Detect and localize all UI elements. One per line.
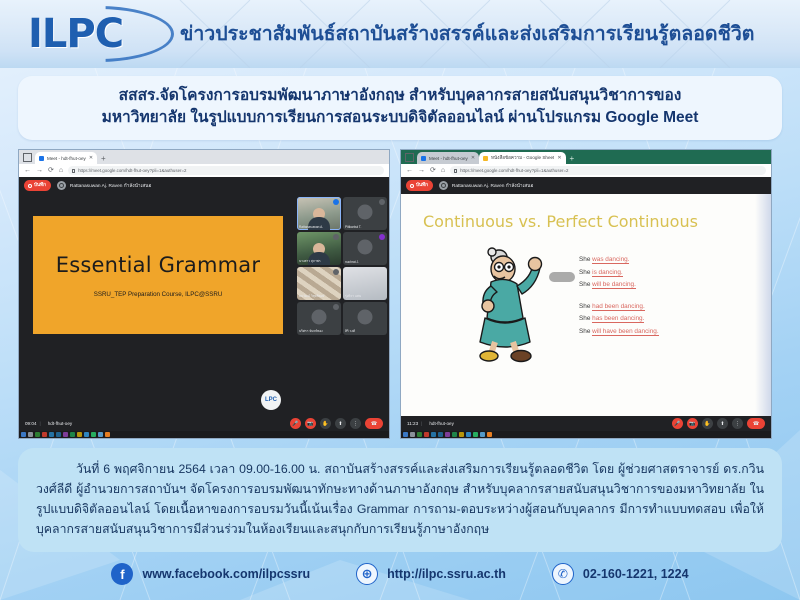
sentence-row: She will have been dancing. — [579, 326, 659, 339]
lock-icon — [72, 169, 75, 173]
record-dot-icon-right — [410, 184, 414, 188]
left-shared-screen: Essential Grammar SSRU_TEP Preparation C… — [19, 194, 295, 416]
taskbar-app-icon[interactable] — [28, 432, 33, 437]
taskbar-app-icon[interactable] — [438, 432, 443, 437]
taskbar-app-icon[interactable] — [417, 432, 422, 437]
taskbar-app-icon[interactable] — [431, 432, 436, 437]
leave-call-button[interactable]: ☎ — [747, 418, 765, 429]
participant-thumbnail[interactable]: สิริ วงศ์ — [343, 302, 387, 335]
sentence-group-perfect-continuous: She had been dancing.She has been dancin… — [579, 301, 659, 339]
camera-off-button[interactable]: 📷 — [687, 418, 698, 429]
mic-status-icon — [333, 199, 339, 205]
left-omnibox-row: ← → ⟳ ⌂ https://meet.google.com/hdt-fhut… — [19, 164, 389, 177]
present-screen-button[interactable]: ⬆ — [717, 418, 728, 429]
sentence-verb-phrase: was dancing. — [592, 256, 629, 264]
participant-thumbnail[interactable]: นางสาว สุภาพร — [297, 232, 341, 265]
footer-contact-text: http://ilpc.ssru.ac.th — [387, 567, 506, 581]
headline-line-1: สสสร.จัดโครงการอบรมพัฒนาภาษาอังกฤษ สำหรั… — [34, 85, 766, 107]
left-meet-time: 09:04 — [25, 421, 37, 426]
mic-status-icon — [379, 199, 385, 205]
phone-icon: ✆ — [552, 563, 574, 585]
left-call-controls: 🎤📷✋⬆⋮☎ — [290, 418, 383, 429]
globe-icon: ⊕ — [356, 563, 378, 585]
taskbar-app-icon[interactable] — [459, 432, 464, 437]
camera-off-button[interactable]: 📷 — [305, 418, 316, 429]
participant-name: นริศรา จันทร์ทอง — [299, 329, 333, 334]
presenting-icon-right — [439, 181, 448, 190]
ilpc-watermark: LPC — [261, 390, 281, 410]
screenshot-row: Meet - hdt-fhut-oey ✕ + ← → ⟳ ⌂ https://… — [18, 149, 782, 439]
body-paragraph: วันที่ 6 พฤศจิกายน 2564 เวลา 09.00-16.00… — [36, 459, 764, 539]
poster-root: ILPC ข่าวประชาสัมพันธ์สถาบันสร้างสรรค์แล… — [0, 0, 800, 600]
sentence-subject: She — [579, 303, 592, 310]
sentence-subject: She — [579, 269, 592, 276]
page-footer: fwww.facebook.com/ilpcssru⊕http://ilpc.s… — [0, 548, 800, 600]
sentence-verb-phrase: had been dancing. — [592, 303, 645, 311]
participant-thumbnail[interactable]: นริศรา จันทร์ทอง — [297, 302, 341, 335]
participant-name: nuchrat J. — [345, 260, 379, 264]
right-meet-time: 11:23 — [407, 421, 418, 426]
taskbar-app-icon[interactable] — [473, 432, 478, 437]
dancing-grandma-illustration — [473, 246, 559, 366]
right-browser-tabstrip: Meet - hdt-fhut-oey ✕ หนังสือข้อความ - G… — [401, 150, 771, 164]
mic-status-icon — [333, 234, 339, 240]
headline-banner: สสสร.จัดโครงการอบรมพัฒนาภาษาอังกฤษ สำหรั… — [18, 76, 782, 140]
left-windows-taskbar — [19, 431, 389, 438]
forward-icon[interactable]: → — [36, 167, 43, 174]
participant-name: รุ่งทิวา แสน — [345, 294, 379, 299]
forward-icon-right[interactable]: → — [418, 167, 425, 174]
headline-line-2: มหาวิทยาลัย ในรูปแบบการเรียนการสอนระบบดิ… — [34, 107, 766, 129]
right-tab-meet[interactable]: Meet - hdt-fhut-oey ✕ — [417, 152, 479, 164]
right-windows-taskbar — [401, 431, 771, 438]
body-text-card: วันที่ 6 พฤศจิกายน 2564 เวลา 09.00-16.00… — [18, 448, 782, 552]
right-tab-meet-label: Meet - hdt-fhut-oey — [429, 156, 468, 161]
window-restore-icon[interactable] — [23, 153, 32, 162]
participant-thumbnail[interactable]: Pitikarbul T. — [343, 197, 387, 230]
present-screen-button[interactable]: ⬆ — [335, 418, 346, 429]
header-title: ข่าวประชาสัมพันธ์สถาบันสร้างสรรค์และส่งเ… — [180, 16, 790, 52]
participant-name: สิริ วงศ์ — [345, 329, 379, 334]
right-recording-label: บันทึก — [416, 182, 428, 189]
sentence-row: She will be dancing. — [579, 279, 659, 292]
reload-icon-right[interactable]: ⟳ — [430, 167, 436, 174]
leave-call-button[interactable]: ☎ — [365, 418, 383, 429]
mic-status-icon — [379, 304, 385, 310]
right-tab-meet-close-icon[interactable]: ✕ — [471, 155, 475, 161]
participant-name: นางสาว สุภาพร — [299, 259, 333, 264]
sentence-list: She was dancing.She is dancing.She will … — [579, 254, 659, 338]
left-meet-controls-bar: 09:04 | hdt-fhut-oey 🎤📷✋⬆⋮☎ — [19, 416, 389, 431]
avatar — [358, 240, 373, 255]
left-new-tab-button[interactable]: + — [101, 155, 106, 163]
raise-hand-button[interactable]: ✋ — [702, 418, 713, 429]
participant-name: Rattanasuwan A. — [299, 225, 333, 229]
left-browser-tabstrip: Meet - hdt-fhut-oey ✕ + — [19, 150, 389, 164]
continuous-tenses-slide: Continuous vs. Perfect Continuous — [401, 194, 771, 416]
microphone-muted-button[interactable]: 🎤 — [290, 418, 301, 429]
left-address-bar[interactable]: https://meet.google.com/hdt-fhut-oey?pli… — [68, 166, 384, 175]
sentence-group-continuous: She was dancing.She is dancing.She will … — [579, 254, 659, 292]
left-tab-meet-label: Meet - hdt-fhut-oey — [47, 156, 86, 161]
left-tab-meet[interactable]: Meet - hdt-fhut-oey ✕ — [35, 152, 97, 164]
participant-name: ธนวัฒน์ วิสุทธิพงษ์ — [299, 294, 333, 299]
sentence-subject: She — [579, 281, 592, 288]
slide-subtitle: SSRU_TEP Preparation Course, ILPC@SSRU — [94, 291, 223, 298]
lock-icon-right — [454, 169, 457, 173]
slide-toolbar-pill[interactable] — [549, 272, 575, 282]
right-call-controls: 🎤📷✋⬆⋮☎ — [672, 418, 765, 429]
record-dot-icon — [28, 184, 32, 188]
right-tab-slides-close-icon[interactable]: ✕ — [557, 155, 561, 161]
avatar — [358, 310, 373, 325]
taskbar-app-icon[interactable] — [480, 432, 485, 437]
right-meeting-code: hdt-fhut-oey — [429, 421, 454, 426]
presenting-icon — [57, 181, 66, 190]
taskbar-app-icon[interactable] — [42, 432, 47, 437]
mic-status-icon — [333, 269, 339, 275]
taskbar-app-icon[interactable] — [35, 432, 40, 437]
sentence-verb-phrase: will be dancing. — [592, 281, 636, 289]
right-url-text: https://meet.google.com/hdt-fhut-oey?pli… — [460, 168, 568, 173]
footer-contact-item[interactable]: ✆02-160-1221, 1224 — [552, 563, 689, 585]
taskbar-app-icon[interactable] — [105, 432, 110, 437]
right-tab-slides[interactable]: หนังสือข้อความ - Google Sheet ✕ — [479, 152, 566, 164]
taskbar-app-icon[interactable] — [84, 432, 89, 437]
sentence-verb-phrase: has been dancing. — [592, 315, 644, 323]
taskbar-app-icon[interactable] — [487, 432, 492, 437]
right-meet-controls-bar: 11:23 | hdt-fhut-oey 🎤📷✋⬆⋮☎ — [401, 416, 771, 431]
mic-status-icon — [333, 304, 339, 310]
right-meet-separator: | — [421, 421, 422, 426]
meet-favicon-icon — [39, 156, 44, 161]
screenshot-right: Meet - hdt-fhut-oey ✕ หนังสือข้อความ - G… — [400, 149, 772, 439]
right-meet-stage: Continuous vs. Perfect Continuous — [401, 194, 771, 416]
sentence-group-gap — [579, 292, 659, 301]
taskbar-app-icon[interactable] — [403, 432, 408, 437]
sentence-subject: She — [579, 315, 592, 322]
facebook-icon: f — [111, 563, 133, 585]
left-url-text: https://meet.google.com/hdt-fhut-oey?pli… — [78, 168, 186, 173]
sentence-subject: She — [579, 328, 592, 335]
mic-status-icon — [379, 234, 385, 240]
sentence-verb-phrase: will have been dancing. — [592, 328, 658, 336]
taskbar-app-icon[interactable] — [410, 432, 415, 437]
footer-contact-item[interactable]: ⊕http://ilpc.ssru.ac.th — [356, 563, 506, 585]
participant-thumbnail[interactable]: nuchrat J. — [343, 232, 387, 265]
mic-status-icon — [379, 269, 385, 275]
taskbar-app-icon[interactable] — [98, 432, 103, 437]
taskbar-app-icon[interactable] — [63, 432, 68, 437]
footer-contact-text: 02-160-1221, 1224 — [583, 567, 689, 581]
taskbar-app-icon[interactable] — [77, 432, 82, 437]
taskbar-app-icon[interactable] — [21, 432, 26, 437]
footer-contact-item[interactable]: fwww.facebook.com/ilpcssru — [111, 563, 310, 585]
footer-contact-text: www.facebook.com/ilpcssru — [142, 567, 310, 581]
participant-thumbnail[interactable]: รุ่งทิวา แสน — [343, 267, 387, 300]
taskbar-app-icon[interactable] — [452, 432, 457, 437]
taskbar-app-icon[interactable] — [49, 432, 54, 437]
left-meet-stage: Essential Grammar SSRU_TEP Preparation C… — [19, 194, 389, 416]
ilpc-logo: ILPC — [28, 9, 173, 59]
right-address-bar[interactable]: https://meet.google.com/hdt-fhut-oey?pli… — [450, 166, 766, 175]
slides-favicon-icon — [483, 156, 488, 161]
taskbar-app-icon[interactable] — [445, 432, 450, 437]
page-header: ILPC ข่าวประชาสัมพันธ์สถาบันสร้างสรรค์แล… — [0, 0, 800, 68]
left-meet-separator: | — [40, 421, 41, 426]
right-presenter-chip: Rattanasuwan Aj. Raven กำลังนำเสนอ — [439, 181, 533, 190]
left-presenter-label: Rattanasuwan Aj. Raven กำลังนำเสนอ — [70, 182, 151, 190]
home-icon-right[interactable]: ⌂ — [441, 167, 445, 174]
taskbar-app-icon[interactable] — [424, 432, 429, 437]
left-presenter-chip: Rattanasuwan Aj. Raven กำลังนำเสนอ — [57, 181, 151, 190]
left-recording-label: บันทึก — [34, 182, 46, 189]
slide-title: Essential Grammar — [56, 253, 260, 277]
raise-hand-button[interactable]: ✋ — [320, 418, 331, 429]
reload-icon[interactable]: ⟳ — [48, 167, 54, 174]
left-recording-badge: บันทึก — [24, 180, 51, 191]
more-options-button[interactable]: ⋮ — [732, 418, 743, 429]
right-omnibox-row: ← → ⟳ ⌂ https://meet.google.com/hdt-fhut… — [401, 164, 771, 177]
participant-thumbnail[interactable]: Rattanasuwan A. — [297, 197, 341, 230]
left-tab-close-icon[interactable]: ✕ — [89, 155, 93, 161]
back-icon-right[interactable]: ← — [406, 167, 413, 174]
right-meet-topbar: บันทึก Rattanasuwan Aj. Raven กำลังนำเสน… — [401, 177, 771, 194]
more-options-button[interactable]: ⋮ — [350, 418, 361, 429]
avatar — [358, 205, 373, 220]
sentence-row: She is dancing. — [579, 267, 659, 280]
slide-edge-fade — [755, 194, 771, 416]
back-icon[interactable]: ← — [24, 167, 31, 174]
essential-grammar-slide: Essential Grammar SSRU_TEP Preparation C… — [33, 216, 283, 334]
left-meet-topbar: บันทึก Rattanasuwan Aj. Raven กำลังนำเสน… — [19, 177, 389, 194]
right-tab-slides-label: หนังสือข้อความ - Google Sheet — [491, 155, 554, 162]
sentence-row: She had been dancing. — [579, 301, 659, 314]
taskbar-app-icon[interactable] — [466, 432, 471, 437]
sentence-subject: She — [579, 256, 592, 263]
sentence-row: She was dancing. — [579, 254, 659, 267]
home-icon[interactable]: ⌂ — [59, 167, 63, 174]
meet-favicon-icon-right — [421, 156, 426, 161]
participant-name: Pitikarbul T. — [345, 225, 379, 229]
sentence-row: She has been dancing. — [579, 313, 659, 326]
microphone-muted-button[interactable]: 🎤 — [672, 418, 683, 429]
right-shared-screen: Continuous vs. Perfect Continuous — [401, 194, 771, 416]
left-participant-grid: Rattanasuwan A.Pitikarbul T.นางสาว สุภาพ… — [295, 194, 389, 416]
avatar — [312, 310, 327, 325]
slide-title-right: Continuous vs. Perfect Continuous — [423, 212, 698, 231]
taskbar-app-icon[interactable] — [56, 432, 61, 437]
sentence-verb-phrase: is dancing. — [592, 269, 623, 277]
right-recording-badge: บันทึก — [406, 180, 433, 191]
taskbar-app-icon[interactable] — [91, 432, 96, 437]
screenshot-left: Meet - hdt-fhut-oey ✕ + ← → ⟳ ⌂ https://… — [18, 149, 390, 439]
participant-thumbnail[interactable]: ธนวัฒน์ วิสุทธิพงษ์ — [297, 267, 341, 300]
right-presenter-label: Rattanasuwan Aj. Raven กำลังนำเสนอ — [452, 182, 533, 190]
taskbar-app-icon[interactable] — [70, 432, 75, 437]
right-new-tab-button[interactable]: + — [570, 155, 575, 163]
left-meeting-code: hdt-fhut-oey — [48, 421, 73, 426]
window-restore-icon-right[interactable] — [405, 153, 414, 162]
